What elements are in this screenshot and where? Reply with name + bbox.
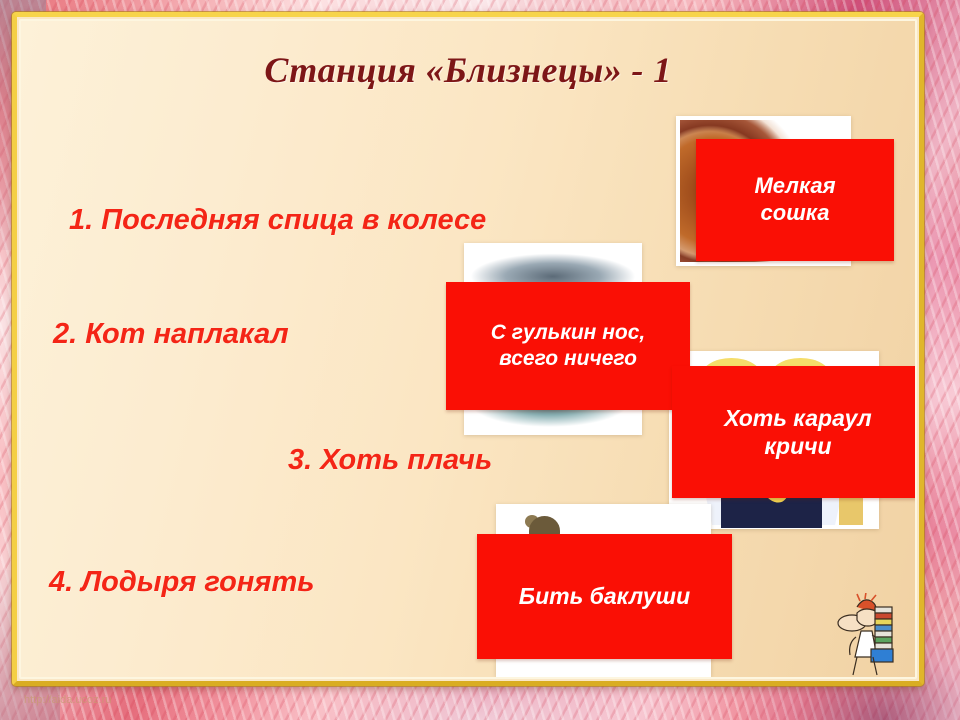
answer-line-1: Хоть караул <box>724 405 871 431</box>
idiom-item-2: 2. Кот наплакал <box>53 318 289 351</box>
answer-box-melkaya-soshka[interactable]: Мелкая сошка <box>696 139 894 261</box>
myshared-brand-text: MyShared <box>803 674 915 677</box>
answer-box-s-gulkin-nos-text: С гулькин нос, всего ничего <box>491 320 645 371</box>
slide-root: Станция «Близнецы» - 1 1. Последняя спиц… <box>0 0 960 720</box>
answer-line-2: всего ничего <box>499 347 637 370</box>
answer-line-2: кричи <box>764 433 831 459</box>
answer-box-bit-baklushi-text: Бить баклуши <box>519 582 690 610</box>
answer-line-1: Мелкая <box>754 173 835 198</box>
idiom-item-3: 3. Хоть плачь <box>288 444 492 477</box>
answer-line-1: С гулькин нос, <box>491 321 645 344</box>
answer-line-2: сошка <box>761 200 830 225</box>
myshared-watermark: MyShared <box>767 674 915 677</box>
answer-box-melkaya-soshka-text: Мелкая сошка <box>754 173 835 227</box>
answer-box-hot-karaul-krichi[interactable]: Хоть караул кричи <box>672 366 915 498</box>
answer-box-bit-baklushi[interactable]: Бить баклуши <box>477 534 732 659</box>
page-title: Станция «Близнецы» - 1 <box>21 49 915 91</box>
answer-box-s-gulkin-nos[interactable]: С гулькин нос, всего ничего <box>446 282 690 410</box>
answer-box-hot-karaul-krichi-text: Хоть караул кричи <box>724 404 871 460</box>
slide-canvas: Станция «Близнецы» - 1 1. Последняя спиц… <box>21 21 915 677</box>
idiom-item-1: 1. Последняя спица в колесе <box>69 204 486 237</box>
source-url-watermark: http://aida.ucoz.ru <box>24 694 111 706</box>
cartoon-man-with-books-illustration <box>827 593 899 677</box>
idiom-item-4: 4. Лодыря гонять <box>49 566 315 599</box>
presentation-chart-icon <box>767 676 797 677</box>
